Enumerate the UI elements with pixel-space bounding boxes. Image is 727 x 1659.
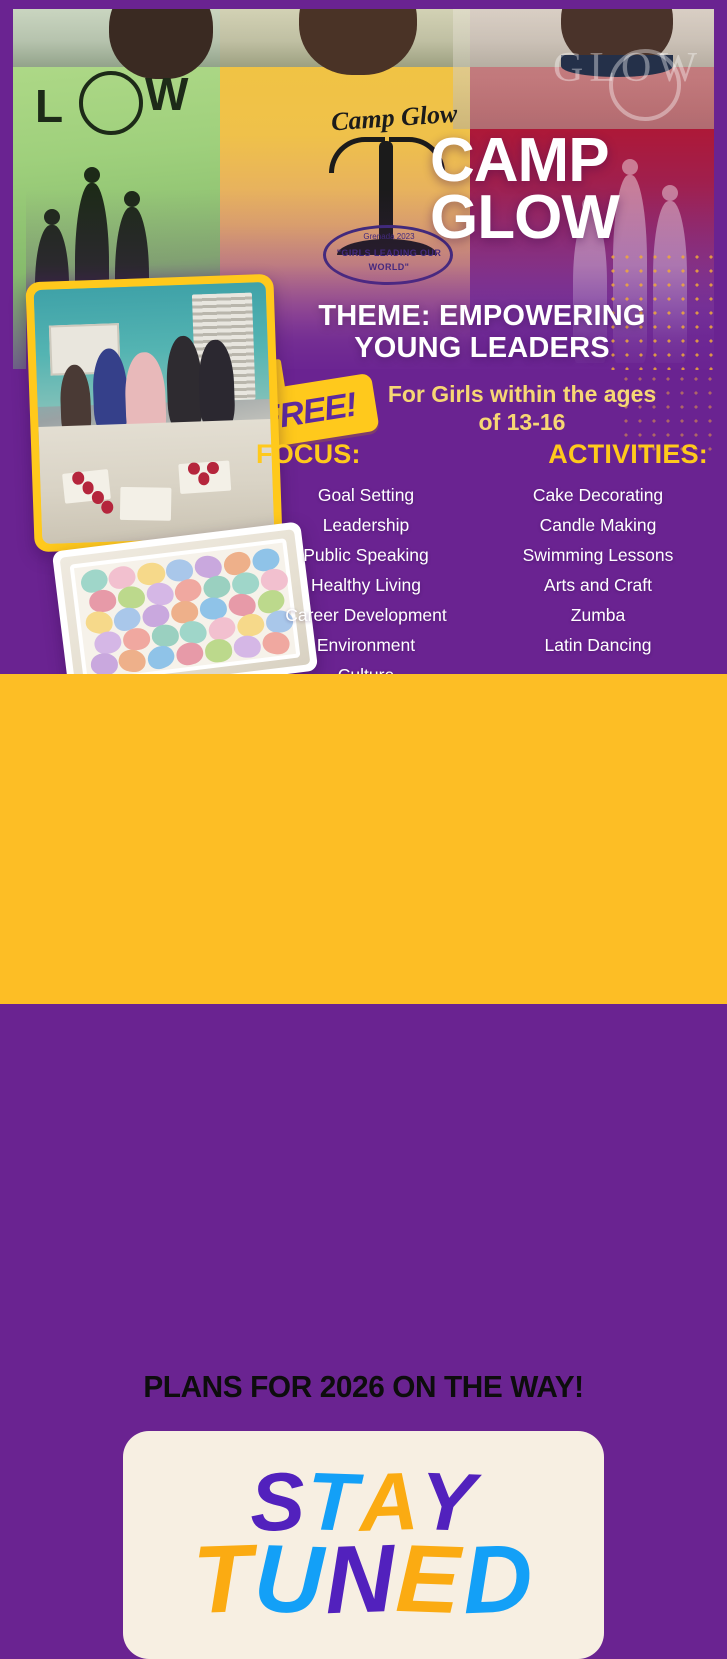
- column-headings: FOCUS: ACTIVITIES:: [250, 440, 714, 470]
- paper-heart: [90, 653, 118, 674]
- paper-heart: [145, 642, 179, 673]
- bubble-letter: U: [252, 1539, 326, 1622]
- paper-heart: [117, 586, 145, 609]
- list-item: Environment: [250, 630, 482, 660]
- footer-band: PLANS FOR 2026 ON THE WAY! STAY TUNED: [0, 674, 727, 1004]
- paper-heart: [118, 648, 148, 674]
- theme-heading: THEME: EMPOWERING YOUNG LEADERS: [250, 300, 714, 365]
- column-lists: Goal Setting Leadership Public Speaking …: [250, 480, 714, 674]
- bubble-letter: S: [249, 1468, 308, 1539]
- bubble-letter: T: [306, 1468, 360, 1539]
- program-columns: FOCUS: ACTIVITIES: Goal Setting Leadersh…: [250, 440, 714, 674]
- ages-line-2: of 13-16: [330, 408, 714, 436]
- list-item: Candle Making: [482, 510, 714, 540]
- theme-line-2: YOUNG LEADERS: [250, 332, 714, 364]
- craft-bead: [72, 471, 84, 484]
- list-item: Healthy Living: [250, 570, 482, 600]
- title-line-2: GLOW: [430, 189, 714, 246]
- stay-tuned-card: STAY TUNED: [123, 1431, 604, 1659]
- eligibility-text: For Girls within the ages of 13-16: [330, 380, 714, 436]
- bubble-letter: N: [324, 1539, 398, 1622]
- paper-heart: [204, 638, 234, 663]
- craft-paper: [120, 487, 172, 521]
- classroom-photo: [34, 282, 275, 544]
- paper-heart: [174, 640, 206, 669]
- globe-icon: [79, 71, 143, 135]
- list-item: Public Speaking: [250, 540, 482, 570]
- globe-icon-red: [609, 49, 681, 121]
- paper-heart: [151, 625, 179, 648]
- list-item: Arts and Craft: [482, 570, 714, 600]
- theme-line-1: THEME: EMPOWERING: [250, 300, 714, 332]
- focus-heading: FOCUS:: [256, 440, 361, 470]
- craft-bead: [198, 472, 210, 485]
- bubble-letter: E: [395, 1539, 464, 1622]
- list-item: Leadership: [250, 510, 482, 540]
- page-title: CAMP GLOW: [430, 132, 714, 246]
- ages-line-1: For Girls within the ages: [330, 380, 714, 408]
- photo-inset-classroom: [25, 274, 282, 552]
- activities-list: Cake Decorating Candle Making Swimming L…: [482, 480, 714, 674]
- list-item: Cake Decorating: [482, 480, 714, 510]
- green-shirt-letter-w: W: [145, 71, 188, 117]
- bubble-letter: Y: [419, 1468, 478, 1539]
- list-item: Culture: [250, 660, 482, 674]
- list-item: Latin Dancing: [482, 630, 714, 660]
- activities-heading: ACTIVITIES:: [548, 440, 708, 470]
- stay-word: STAY: [250, 1469, 477, 1538]
- tuned-word: TUNED: [193, 1540, 534, 1621]
- list-item: Swimming Lessons: [482, 540, 714, 570]
- plans-announcement: PLANS FOR 2026 ON THE WAY!: [15, 1371, 713, 1402]
- bubble-letter: D: [461, 1539, 535, 1622]
- focus-list: Goal Setting Leadership Public Speaking …: [250, 480, 482, 674]
- bubble-letter: A: [358, 1468, 422, 1539]
- green-shirt-letter-l: L: [35, 83, 63, 129]
- list-item: Goal Setting: [250, 480, 482, 510]
- bubble-letter: T: [192, 1539, 255, 1622]
- poster-root: L W Camp Glow Grenada 2023 "GIRLS LEADIN…: [0, 0, 727, 1004]
- list-item: Zumba: [482, 600, 714, 630]
- hero-section: L W Camp Glow Grenada 2023 "GIRLS LEADIN…: [0, 0, 727, 674]
- list-item: Career Development: [250, 600, 482, 630]
